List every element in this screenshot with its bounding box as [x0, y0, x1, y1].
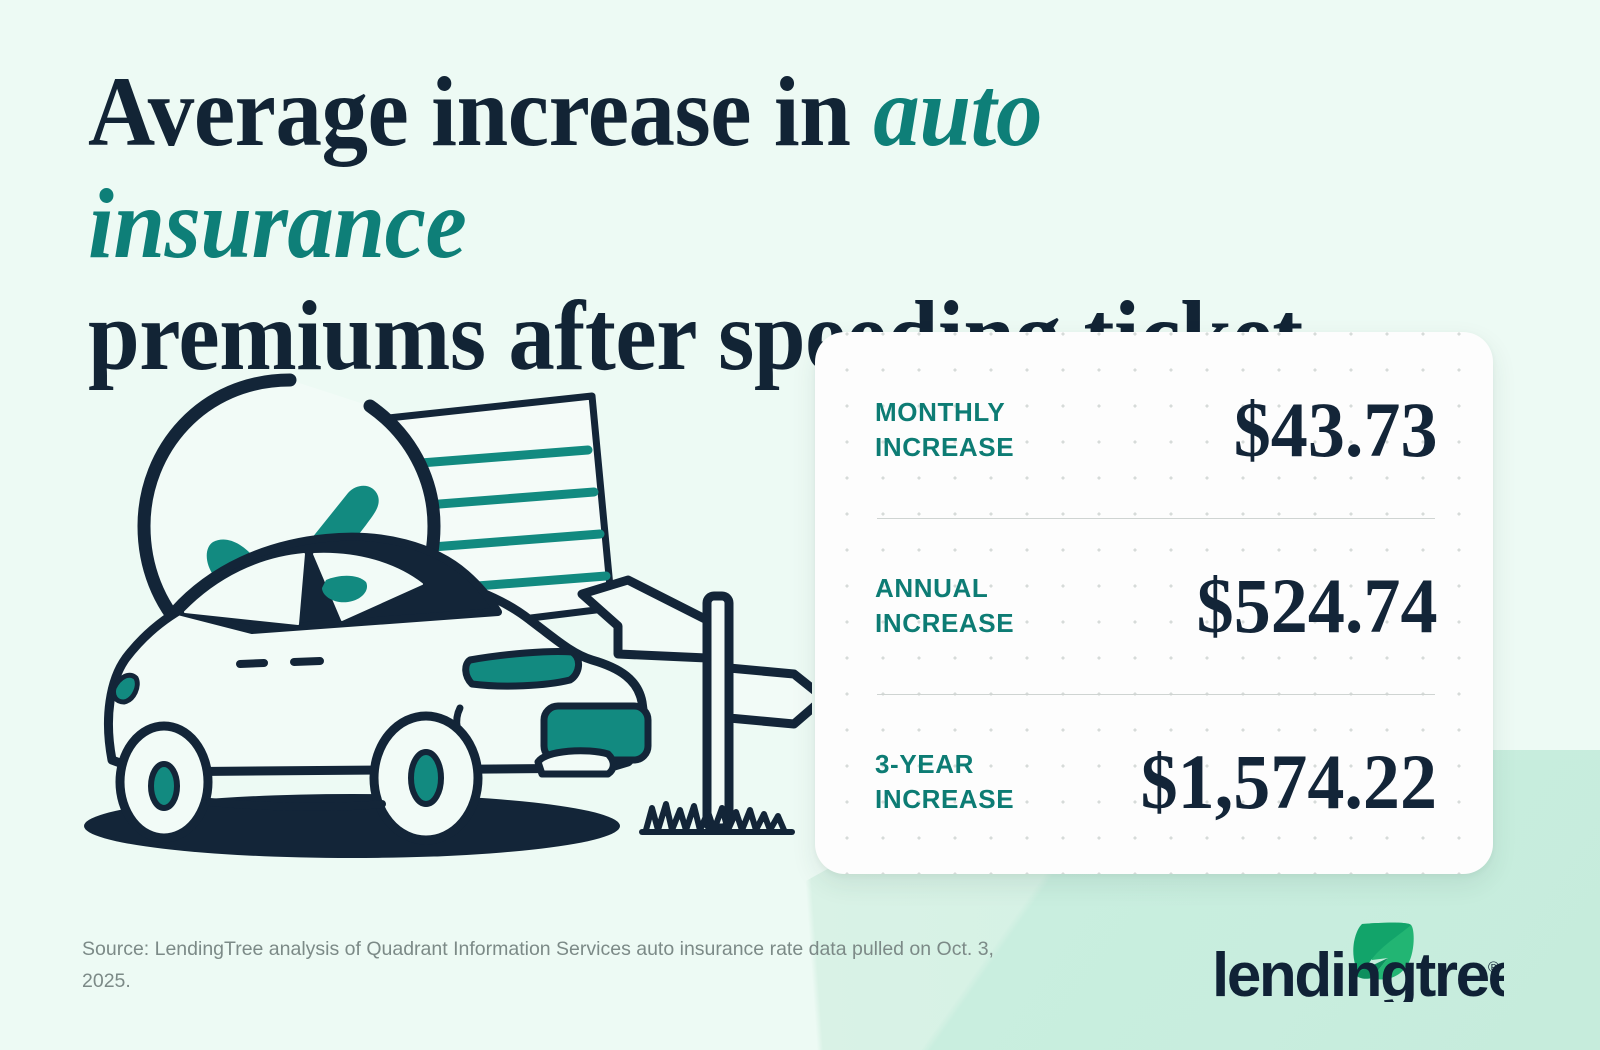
illustration [52, 358, 812, 878]
stat-row-monthly: MONTHLY INCREASE $43.73 [875, 366, 1437, 494]
logo-trademark: ® [1488, 959, 1499, 976]
source-note: Source: LendingTree analysis of Quadrant… [82, 934, 1002, 997]
stat-value-three-year: $1,574.22 [1141, 743, 1437, 821]
infographic-canvas: Average increase in auto insurance premi… [0, 0, 1600, 1050]
row-divider-2 [877, 694, 1435, 695]
source-line-1: Source: LendingTree analysis of Quadrant… [82, 938, 847, 960]
logo-wordmark: lendingtree [1212, 941, 1504, 1002]
stat-value-monthly: $43.73 [1233, 391, 1437, 469]
title-line1-prefix: Average increase in [88, 56, 873, 167]
stats-card: MONTHLY INCREASE $43.73 ANNUAL INCREASE … [815, 332, 1493, 874]
stat-value-annual: $524.74 [1196, 567, 1437, 645]
lendingtree-logo[interactable]: lendingtree ® [1212, 920, 1504, 1002]
row-divider-1 [877, 518, 1435, 519]
stats-rows: MONTHLY INCREASE $43.73 ANNUAL INCREASE … [815, 332, 1493, 874]
stat-row-annual: ANNUAL INCREASE $524.74 [875, 542, 1437, 670]
stat-row-three-year: 3-YEAR INCREASE $1,574.22 [875, 718, 1437, 846]
stat-label-three-year: 3-YEAR INCREASE [875, 747, 1014, 816]
stat-label-annual: ANNUAL INCREASE [875, 571, 1014, 640]
stat-label-monthly: MONTHLY INCREASE [875, 395, 1014, 464]
